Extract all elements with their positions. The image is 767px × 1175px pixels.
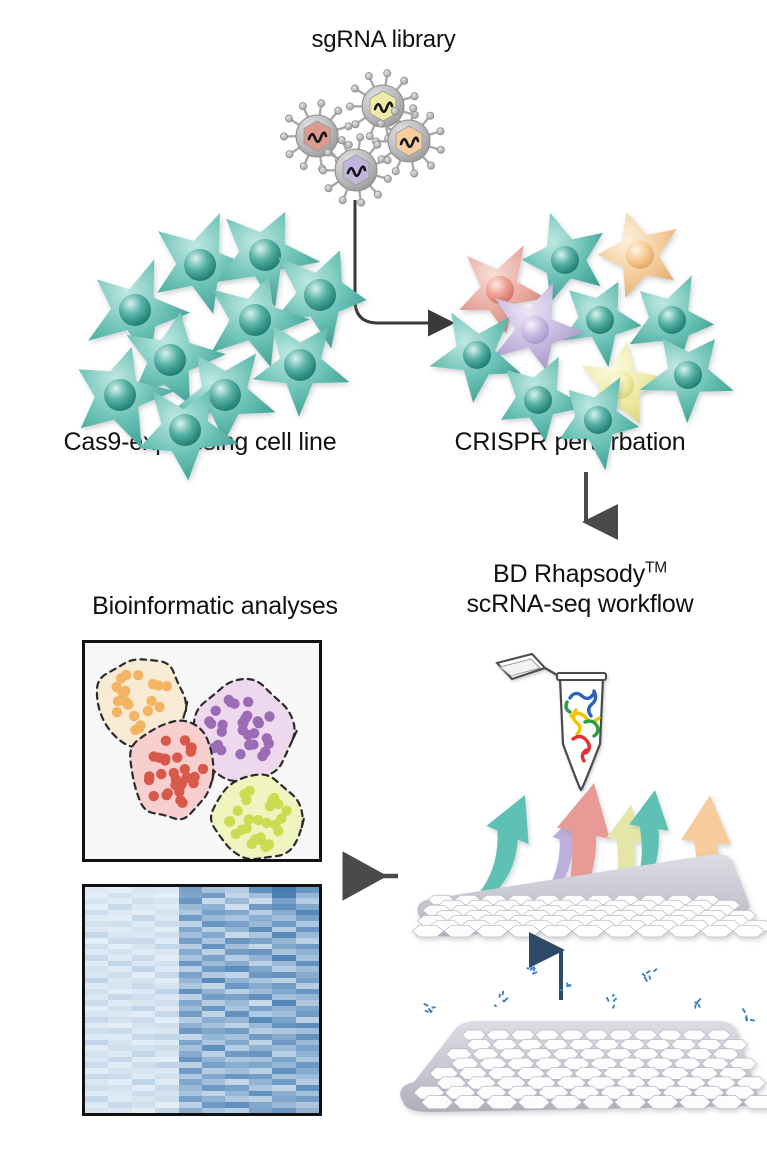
bead-particle [560,983,570,990]
cluster-dot [253,815,263,825]
cell-nucleus [184,249,216,281]
virus-spike-stalk [403,96,415,100]
microwell [508,915,538,926]
sgrna-squiggle [309,133,326,142]
microwell [586,920,617,931]
microwell [599,915,629,926]
cluster-dot [224,816,234,826]
cell-body [630,276,714,361]
microwell [550,1096,582,1109]
microwell [535,1058,562,1069]
virus-spike-stalk [397,121,405,130]
microwell-cartridge-top [412,854,767,937]
microwell [428,895,454,905]
heatmap-cell [202,1108,225,1114]
virus-spike-stalk [396,160,401,171]
microwell [658,900,685,910]
virus-spike-stalk [328,153,339,160]
virus-spike-stalk [369,76,374,87]
microwell [444,925,475,936]
cluster-dot [174,787,184,797]
microwell [667,895,693,905]
microwell [476,1086,506,1099]
virus-spike-knob [411,170,418,177]
arrow-yellow [607,805,645,918]
microwell [586,1077,615,1089]
virus-spike-stalk [328,181,338,188]
microwell [689,915,719,926]
microwell [698,910,727,920]
cluster-dot [244,740,254,750]
virus-spike-knob [345,123,352,130]
microwell [658,1030,682,1040]
cluster-dot [250,834,260,844]
microwell [412,925,443,936]
cell-body [430,313,521,403]
virus-spike-knob [385,135,392,142]
virus-spike-knob [299,103,306,110]
microwell [522,910,551,920]
microwell [629,915,659,926]
virus-spike-stalk [396,81,404,91]
microwell [633,1049,659,1060]
heatmap-cell [155,1108,178,1114]
bead-particle [607,995,616,1008]
virus-spike-knob [366,133,373,140]
microwell [473,1049,499,1060]
virus-spike-knob [377,120,384,127]
microwell [617,920,648,931]
microwell [569,1039,594,1049]
cluster-dot [198,764,208,774]
virus-spike-knob [324,149,331,156]
bead-mark [569,985,570,986]
cell-body [459,245,546,333]
microwell [659,1049,685,1060]
cell-body [216,212,320,307]
bead-mark [697,1003,698,1004]
virus-spike-knob [401,77,408,84]
virus-particle-yellow [346,70,418,143]
microwell [584,1030,608,1040]
microwell [582,1096,614,1109]
microwell [594,1039,619,1049]
virus-spike-stalk [320,103,322,115]
microwell [694,1086,724,1099]
virus-spike-stalk [429,146,441,149]
virus-spike-stalk [289,147,299,154]
virus-spike-stalk [337,141,349,144]
cluster-dot [130,725,140,735]
microwell [455,895,481,905]
virus-spike-knob [378,156,385,163]
virus-spike-knob [300,163,307,170]
microwell [669,925,700,936]
microwell [603,900,630,910]
microwell [640,910,669,920]
microwell [538,1086,568,1099]
cell-nucleus [521,316,549,344]
virus-spike-knob [411,93,418,100]
virus-spike-knob [427,162,434,169]
microwell [615,1096,647,1109]
cluster-dot [211,706,221,716]
bead-mark [504,998,507,1001]
bead-mark [613,1006,614,1008]
microwell [725,1086,755,1099]
microwell [538,915,568,926]
microwell [496,1077,525,1089]
microwell [488,1068,516,1080]
microwell [646,1058,673,1069]
virus-spike-knob [335,157,342,164]
virus-spike-stalk [303,106,308,117]
cluster-dot [133,670,143,680]
cell-nucleus [249,239,281,271]
microwell [451,905,479,915]
bead-mark [650,976,651,978]
virus-envelope [335,149,377,191]
virus-spike-stalk [376,175,388,178]
virus-spike-stalk [337,126,349,130]
microwell [434,910,463,920]
virus-spike-stalk [359,137,361,149]
microwell [508,895,534,905]
bead-mark [567,985,569,986]
umap-svg [85,643,319,859]
bead-particle [527,967,536,973]
virus-spike-stalk [422,116,430,126]
cell-body [273,250,366,348]
cluster-dot [160,755,170,765]
microwell [679,1096,711,1109]
virus-capsid [304,121,330,151]
bead-particle [695,999,700,1008]
microwell [631,900,658,910]
cell-nucleus [304,279,336,311]
virus-spike-stalk [331,151,339,160]
microwell [593,905,621,915]
microwell [466,1077,495,1089]
cluster-dot [172,752,182,762]
virus-spike-knob [392,168,399,175]
cluster-dot [264,711,274,721]
virus-spike-knob [335,107,342,114]
virus-spike-stalk [381,124,392,131]
microwell [669,910,698,920]
virus-spike-knob [384,175,391,182]
microwell [686,1049,712,1060]
microwell [479,905,507,915]
virus-capsid [396,126,422,156]
microwell [439,900,466,910]
microwell [549,900,576,910]
microwell [478,915,508,926]
microwell [671,1039,696,1049]
arrow-teal-2 [629,790,668,895]
cluster-dot [129,711,139,721]
virus-spike-stalk [423,156,431,165]
microwell [590,1058,617,1069]
microwell [729,1058,756,1069]
microwell [713,900,740,910]
expression-heatmap [82,884,322,1116]
virus-spike-knob [338,137,345,144]
microwell [563,1058,590,1069]
microwell [574,1068,602,1080]
microwell [646,1039,671,1049]
bd-rhapsody-workflow-label: BD RhapsodyTM scRNA-seq workflow [420,560,740,619]
microwell [555,920,586,931]
microwell [467,1039,492,1049]
virus-spike-stalk [343,189,348,200]
cell-nucleus [284,349,316,381]
microwell [507,1058,534,1069]
bead-mark [699,1005,700,1007]
heatmap-cell [85,1108,108,1114]
microwell [560,1030,584,1040]
virus-spike-knob [345,141,352,148]
microwell [508,905,536,915]
virus-envelope [362,85,404,127]
cluster-dot [186,743,196,753]
microwell [579,1049,605,1060]
microwell [676,1077,705,1089]
virus-spike-knob [365,73,372,80]
bead-mark [645,977,647,980]
microwell [417,915,447,926]
virus-spike-knob [374,141,381,148]
microwell [727,910,756,920]
cell-nucleus [463,341,491,369]
cell-nucleus [209,379,241,411]
bead-particle [743,1009,754,1021]
microwell [631,1086,661,1099]
microwell [462,1030,486,1040]
cluster-dot [143,706,153,716]
microwell [423,905,451,915]
virus-spike-stalk [369,145,377,155]
microwell [706,905,734,915]
cell-nucleus [239,304,271,336]
microwell [706,1077,735,1089]
microwell [448,915,478,926]
microwell [486,1096,518,1109]
cell-nucleus [658,306,686,334]
microwell [661,1068,689,1080]
microwell [422,1096,454,1109]
microwell [701,925,732,936]
cluster-dot [264,738,274,748]
cell-body [212,276,310,367]
virus-spike-stalk [355,89,366,96]
virus-spike-stalk [386,126,388,138]
virus-spike-knob [286,151,293,158]
virus-spike-stalk [395,111,400,122]
microwell [722,1039,747,1049]
cluster-dot [112,707,122,717]
cell-body [582,342,665,425]
microwell [521,900,548,910]
virus-spike-stalk [304,155,309,166]
virus-envelope [388,120,430,162]
bead-mark [430,1011,431,1012]
microwell [693,895,719,905]
cluster-dot [235,749,245,759]
virus-spike-stalk [320,156,322,168]
cluster-dot [156,769,166,779]
cluster-dot [244,786,254,796]
bead-mark [503,992,504,995]
microwell [711,1096,743,1109]
virus-particle-orange [372,105,444,178]
microwell [518,1039,543,1049]
cluster-dot [154,702,164,712]
cell-nucleus [486,276,514,304]
microwell [587,895,613,905]
cluster-dot [273,826,283,836]
virus-spike-stalk [403,111,415,114]
virus-spike-stalk [386,73,388,85]
sgrna-virus-group [280,70,444,207]
virus-spike-knob [358,199,365,206]
cluster-dot [113,696,123,706]
cluster-dot [181,773,191,783]
virus-spike-knob [339,197,346,204]
microwell [464,910,493,920]
cluster-dot [226,697,236,707]
virus-spike-knob [325,185,332,192]
heatmap-row [85,1108,319,1114]
microwell [603,1068,631,1080]
microwell [492,920,523,931]
bead-mark [429,1009,431,1012]
virus-spike-knob [401,127,408,134]
microcentrifuge-tube [497,654,606,790]
cluster-dot [269,793,279,803]
bioinformatic-analyses-label: Bioinformatic analyses [20,592,410,622]
virus-capsid [370,91,396,121]
microwell [637,925,668,936]
virus-spike-stalk [429,131,441,135]
cluster-dot [241,795,251,805]
microwell [600,1086,630,1099]
virus-spike-knob [384,157,391,164]
bead-particle [424,1004,434,1012]
microwell [523,920,554,931]
microwell [633,1030,657,1040]
microwell [659,915,689,926]
cell-nucleus [551,246,579,274]
cell-body [640,339,734,423]
microwell [446,1049,472,1060]
crispr-perturbation-label: CRISPR perturbation [400,428,740,458]
cas9-cell-line-label: Cas9-expressing cell line [20,428,380,458]
microwell [507,1086,537,1099]
virus-spike-stalk [381,152,391,159]
microwell [437,1077,466,1089]
bead-mark [534,969,535,971]
cluster-red [130,721,214,820]
virus-capsid [343,155,369,185]
virus-spike-knob [346,103,353,110]
virus-spike-knob [357,134,364,141]
microwell [620,1039,645,1049]
heatmap-cell [249,1108,272,1114]
microwell [414,1086,444,1099]
bead-mark [695,1003,697,1004]
microwell [511,1030,535,1040]
cluster-dot [161,736,171,746]
virus-spike-knob [391,108,398,115]
microwell [733,925,764,936]
virus-particle-salmon [280,100,352,173]
sgrna-library-title: sgRNA library [0,26,767,54]
bead-mark [751,1020,754,1021]
cell-nucleus [154,344,186,376]
microwell [553,1049,579,1060]
microwell [565,905,593,915]
microwell [606,1049,632,1060]
sgrna-squiggle [401,138,418,147]
umap-cluster-plot [82,640,322,862]
virus-spike-knob [384,70,391,77]
microwell [710,920,741,931]
cluster-dot [116,673,126,683]
virus-spike-knob [437,146,444,153]
cluster-dot [238,718,248,728]
microwell [618,1058,645,1069]
cell-nucleus [586,306,614,334]
microwell [632,1068,660,1080]
microwell [581,910,610,920]
heatmap-cell [132,1108,155,1114]
microwell [616,1077,645,1089]
virus-spike-stalk [355,117,365,124]
microwell [610,910,639,920]
cell-nucleus [524,386,552,414]
microwell [494,900,521,910]
microwell [640,895,666,905]
microwell [621,905,649,915]
virus-spike-knob [319,167,326,174]
microwell [569,915,599,926]
virus-spike-stalk [376,160,388,164]
microwell [461,920,492,931]
microwell [518,1096,550,1109]
virus-particle-purple [319,134,391,207]
virus-spike-knob [280,133,287,140]
cluster-dot [241,823,251,833]
sgrna-squiggle [375,103,392,112]
cell-body [562,282,642,367]
microwell [720,915,750,926]
cluster-dot [216,745,226,755]
bead-mark [495,1005,496,1006]
bead-mark [654,969,656,971]
bead-mark [607,998,609,1001]
cluster-dot [217,720,227,730]
cell-nucleus [674,361,702,389]
cell-body [493,283,584,371]
bead-mark [533,972,536,973]
virus-spike-stalk [370,185,378,194]
microwell [682,1030,706,1040]
arrow-library-to-cells [355,200,452,323]
microwell-grid-top [412,895,767,937]
virus-envelope [296,115,338,157]
microwell [678,905,706,915]
